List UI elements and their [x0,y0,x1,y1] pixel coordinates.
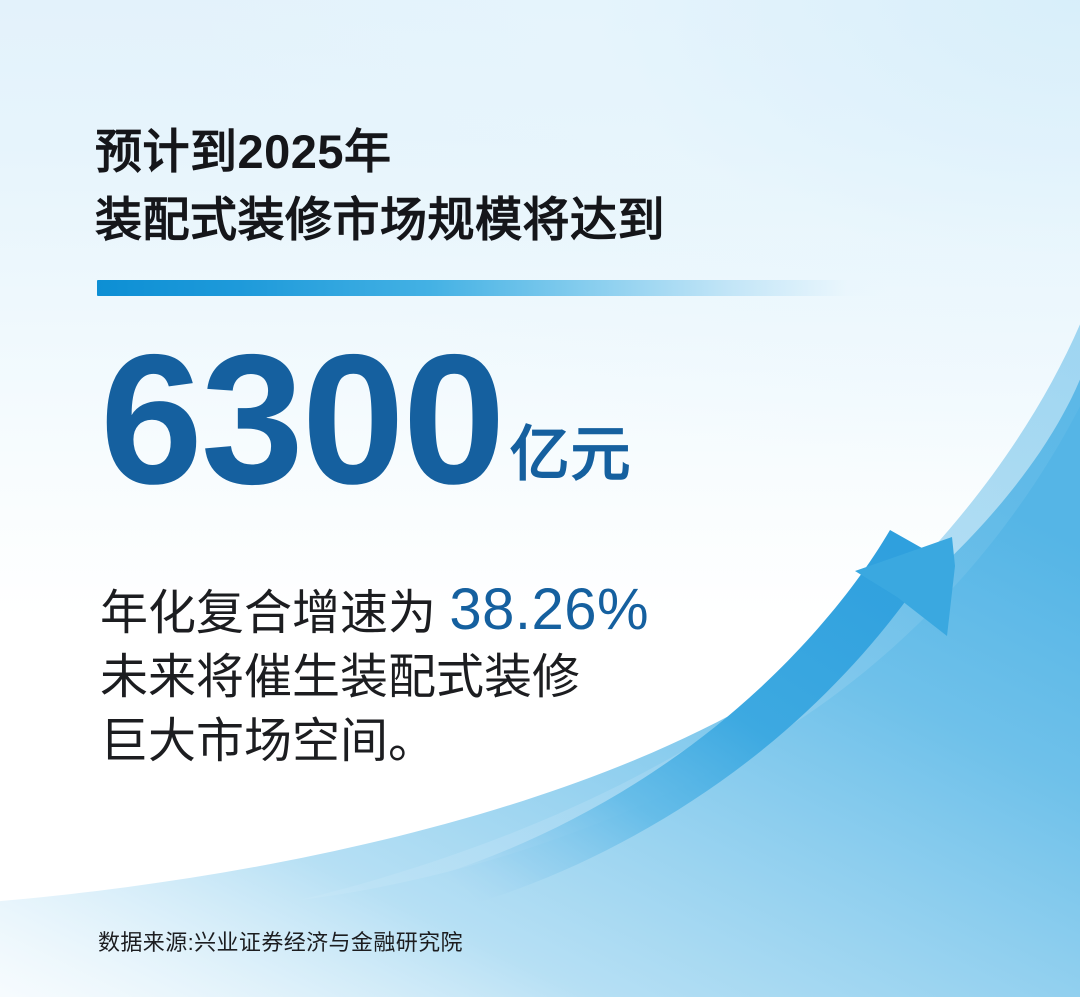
infographic-poster: 预计到2025年 装配式装修市场规模将达到 6300 亿元 年化复合增速为 38… [0,0,1080,997]
statistic-unit: 亿元 [510,425,632,485]
body-line-2: 未来将催生装配式装修 [100,646,820,710]
headline-statistic: 6300 亿元 [100,345,632,495]
statistic-value: 6300 [100,345,504,495]
body-text: 年化复合增速为 38.26% 未来将催生装配式装修 巨大市场空间。 [100,578,820,774]
headline-line-1: 预计到2025年 [95,118,975,186]
poster-content: 预计到2025年 装配式装修市场规模将达到 6300 亿元 年化复合增速为 38… [0,0,1080,997]
headline: 预计到2025年 装配式装修市场规模将达到 [95,118,975,254]
body-line-3: 巨大市场空间。 [100,710,820,774]
body-line-1-prefix: 年化复合增速为 [100,587,449,640]
growth-rate-highlight: 38.26% [449,577,649,642]
gradient-divider-bar [97,280,887,296]
data-source-note: 数据来源:兴业证券经济与金融研究院 [98,928,463,958]
headline-line-2: 装配式装修市场规模将达到 [95,186,975,254]
body-line-1: 年化复合增速为 38.26% [100,578,820,646]
